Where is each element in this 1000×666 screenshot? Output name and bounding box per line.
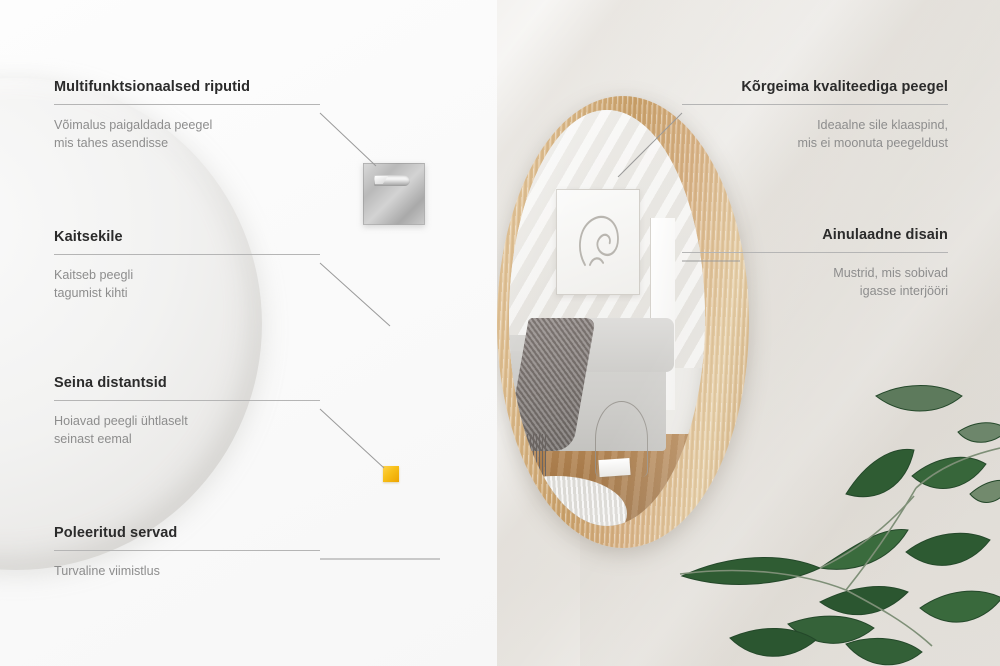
callout-rule bbox=[682, 252, 948, 253]
callout-description: Mustrid, mis sobivad igasse interjööri bbox=[682, 264, 948, 301]
wall-spacer-marker bbox=[383, 466, 399, 482]
callout-title: Kõrgeima kvaliteediga peegel bbox=[682, 79, 948, 95]
callout-description: Hoiavad peegli ühtlaselt seinast eemal bbox=[54, 412, 320, 449]
callout-rule bbox=[54, 550, 320, 551]
callout-polished-edges: Poleeritud servad Turvaline viimistlus bbox=[54, 525, 320, 580]
callout-rule bbox=[682, 104, 948, 105]
callout-description: Ideaalne sile klaaspind, mis ei moonuta … bbox=[682, 116, 948, 153]
callout-protective-film: Kaitsekile Kaitseb peegli tagumist kihti bbox=[54, 229, 320, 303]
reflected-poster bbox=[556, 189, 640, 295]
infographic-canvas: Multifunktsionaalsed riputid Võimalus pa… bbox=[0, 0, 1000, 666]
foliage-decoration bbox=[670, 376, 1000, 666]
callout-description: Turvaline viimistlus bbox=[54, 562, 320, 580]
reflected-book bbox=[599, 458, 631, 477]
callout-rule bbox=[54, 104, 320, 105]
leaves-icon bbox=[670, 376, 1000, 666]
callout-title: Multifunktsionaalsed riputid bbox=[54, 79, 320, 95]
callout-unique-design: Ainulaadne disain Mustrid, mis sobivad i… bbox=[682, 227, 948, 301]
hanger-plate-marker bbox=[363, 163, 425, 225]
callout-wall-spacers: Seina distantsid Hoiavad peegli ühtlasel… bbox=[54, 375, 320, 449]
callout-description: Võimalus paigaldada peegel mis tahes ase… bbox=[54, 116, 320, 153]
callout-multifunctional-hangers: Multifunktsionaalsed riputid Võimalus pa… bbox=[54, 79, 320, 153]
callout-title: Kaitsekile bbox=[54, 229, 320, 245]
callout-title: Seina distantsid bbox=[54, 375, 320, 391]
callout-rule bbox=[54, 400, 320, 401]
line-art-icon bbox=[557, 190, 639, 294]
callout-description: Kaitseb peegli tagumist kihti bbox=[54, 266, 320, 303]
reflected-throw-fringe bbox=[515, 434, 546, 476]
callout-title: Ainulaadne disain bbox=[682, 227, 948, 243]
callout-highest-quality-mirror: Kõrgeima kvaliteediga peegel Ideaalne si… bbox=[682, 79, 948, 153]
keyhole-slot-icon bbox=[374, 175, 410, 186]
callout-rule bbox=[54, 254, 320, 255]
callout-title: Poleeritud servad bbox=[54, 525, 320, 541]
